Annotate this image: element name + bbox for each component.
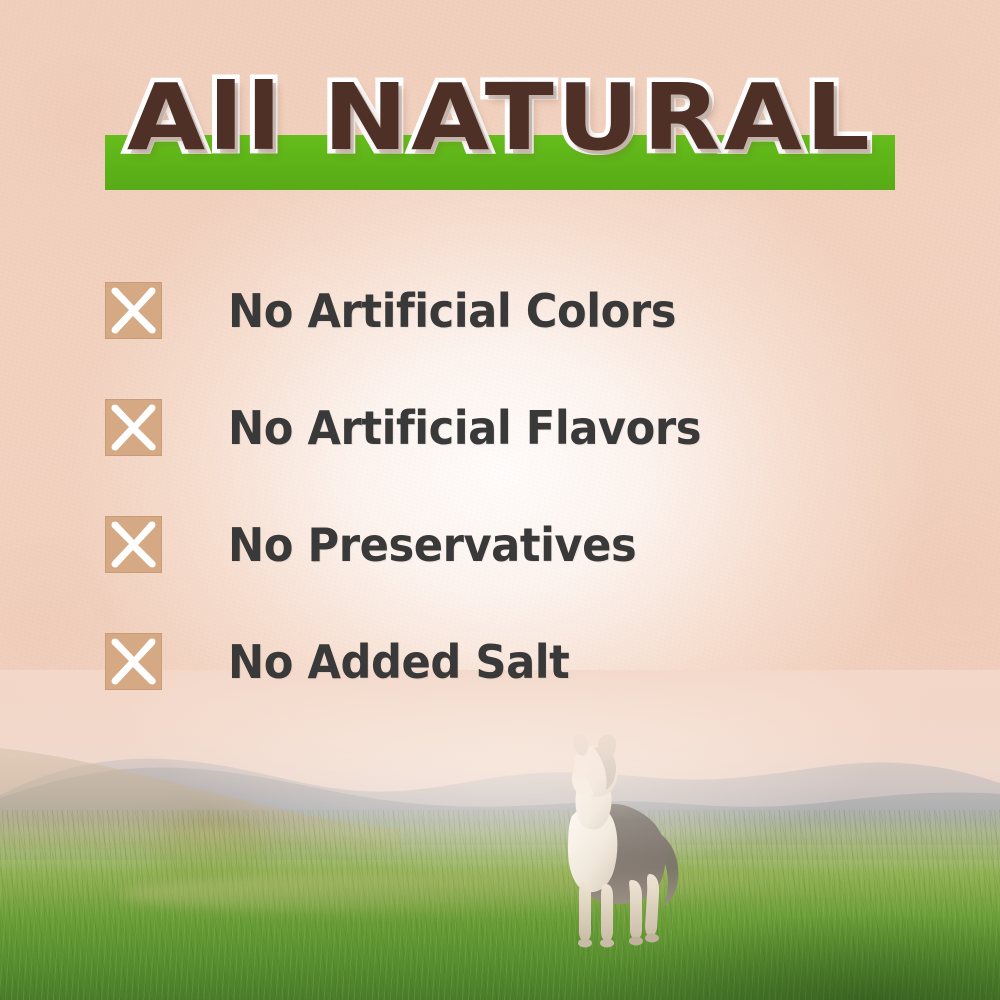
- page-title: All NATURAL: [0, 70, 1000, 166]
- x-mark-icon: [105, 633, 162, 690]
- claim-item-no-artificial-colors: No Artificial Colors: [105, 252, 925, 369]
- x-mark-icon: [105, 516, 162, 573]
- x-mark-icon: [105, 399, 162, 456]
- claims-list: No Artificial Colors No Artificial Flavo…: [105, 252, 925, 720]
- claim-label: No Artificial Flavors: [228, 403, 701, 453]
- headline-banner: All NATURAL: [0, 70, 1000, 195]
- claim-item-no-added-salt: No Added Salt: [105, 603, 925, 720]
- claim-label: No Artificial Colors: [228, 286, 676, 336]
- claim-label: No Added Salt: [228, 637, 569, 687]
- x-mark-icon: [105, 282, 162, 339]
- claim-item-no-preservatives: No Preservatives: [105, 486, 925, 603]
- grass-shadow: [580, 880, 1000, 1000]
- product-feature-graphic: All NATURAL No Artificial Colors No Arti…: [0, 0, 1000, 1000]
- claim-label: No Preservatives: [228, 520, 636, 570]
- claim-item-no-artificial-flavors: No Artificial Flavors: [105, 369, 925, 486]
